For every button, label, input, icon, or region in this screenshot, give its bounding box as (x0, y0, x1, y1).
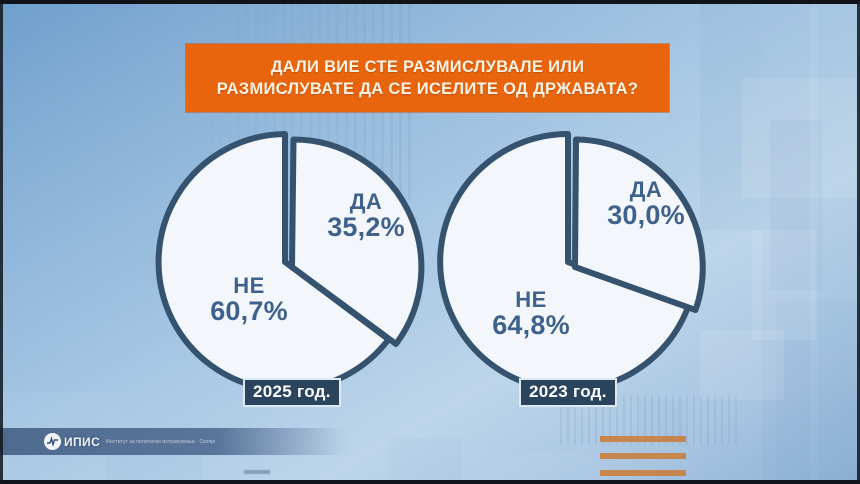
background-square (818, 0, 860, 484)
pie-chart-2025: ДА 35,2% НЕ 60,7% (175, 128, 415, 388)
orange-bars-decoration (600, 436, 686, 484)
pie-label-ne-2023-category: НЕ (468, 288, 594, 311)
logo-name: ИПИС (64, 435, 100, 449)
pie-label-da-2023-category: ДА (588, 178, 704, 201)
frame-edge-top (0, 0, 860, 4)
logo-lower-third: ИПИС Институт за политички истражувања -… (0, 428, 352, 455)
small-dash-decoration (244, 470, 270, 474)
pie-label-da-2025: ДА 35,2% (308, 190, 424, 241)
orange-bar (600, 470, 686, 476)
pie-chart-2023-svg (440, 128, 680, 388)
pie-label-da-2023-value: 30,0% (588, 201, 704, 229)
year-label-2023: 2023 год. (519, 378, 617, 407)
banner-line-2: РАЗМИСЛУВАТЕ ДА СЕ ИСЕЛИТЕ ОД ДРЖАВАТА? (217, 78, 639, 100)
pie-label-da-2023: ДА 30,0% (588, 178, 704, 229)
pie-chart-2025-svg (175, 128, 415, 388)
ipis-logo-icon (44, 433, 61, 450)
year-label-2025: 2025 год. (243, 378, 341, 407)
background-square (700, 330, 784, 400)
pie-label-ne-2025-category: НЕ (191, 274, 307, 297)
pie-label-da-2025-category: ДА (308, 190, 424, 213)
pie-chart-2023: ДА 30,0% НЕ 64,8% (440, 128, 680, 388)
frame-edge-bottom (0, 480, 860, 484)
broadcast-graphic: ДАЛИ ВИЕ СТЕ РАЗМИСЛУВАЛЕ ИЛИ РАЗМИСЛУВА… (0, 0, 860, 484)
pie-label-ne-2023: НЕ 64,8% (468, 288, 594, 339)
pie-label-da-2025-value: 35,2% (308, 213, 424, 241)
background-square (640, 400, 684, 440)
logo-tagline: Институт за политички истражувања - Скоп… (106, 439, 215, 445)
pie-label-ne-2025-value: 60,7% (191, 297, 307, 325)
pie-label-ne-2025: НЕ 60,7% (191, 274, 307, 325)
frame-edge-left (0, 0, 3, 484)
pie-label-ne-2023-value: 64,8% (468, 311, 594, 339)
banner-line-1: ДАЛИ ВИЕ СТЕ РАЗМИСЛУВАЛЕ ИЛИ (271, 56, 585, 78)
background-square (388, 438, 462, 484)
orange-bar (600, 453, 686, 459)
orange-bar (600, 436, 686, 442)
title-banner: ДАЛИ ВИЕ СТЕ РАЗМИСЛУВАЛЕ ИЛИ РАЗМИСЛУВА… (186, 44, 669, 112)
